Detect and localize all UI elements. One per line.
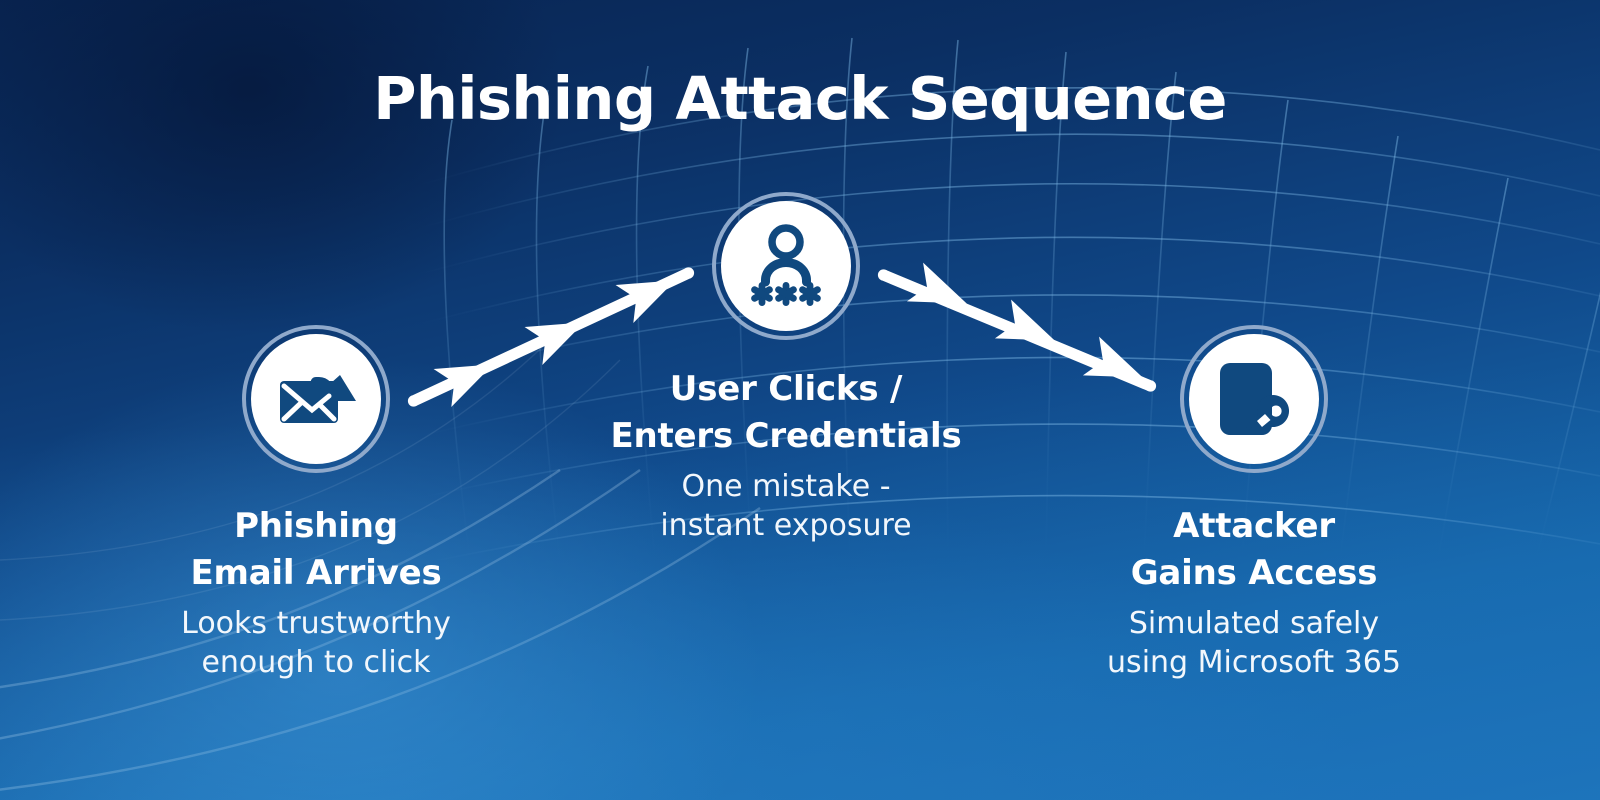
step-headline: User Clicks / Enters Credentials <box>566 366 1006 460</box>
step-icon-badge <box>242 325 390 473</box>
user-credentials-icon <box>742 222 830 310</box>
badge-disc <box>721 201 851 331</box>
step-user-clicks: User Clicks / Enters Credentials One mis… <box>566 192 1006 545</box>
step-headline: Phishing Email Arrives <box>96 503 536 597</box>
step-phishing-email: Phishing Email Arrives Looks trustworthy… <box>96 325 536 682</box>
step-subtext: One mistake - instant exposure <box>566 467 1006 545</box>
step-subtext: Looks trustworthy enough to click <box>96 604 536 682</box>
step-icon-badge <box>1180 325 1328 473</box>
step-subtext: Simulated safely using Microsoft 365 <box>1034 604 1474 682</box>
device-key-icon <box>1210 355 1298 443</box>
infographic-canvas: Phishing Attack Sequence <box>0 0 1600 800</box>
badge-disc <box>1189 334 1319 464</box>
page-title: Phishing Attack Sequence <box>0 68 1600 130</box>
step-icon-badge <box>712 192 860 340</box>
envelope-hook-icon <box>270 353 362 445</box>
step-attacker-access: Attacker Gains Access Simulated safely u… <box>1034 325 1474 682</box>
step-headline: Attacker Gains Access <box>1034 503 1474 597</box>
badge-disc <box>251 334 381 464</box>
